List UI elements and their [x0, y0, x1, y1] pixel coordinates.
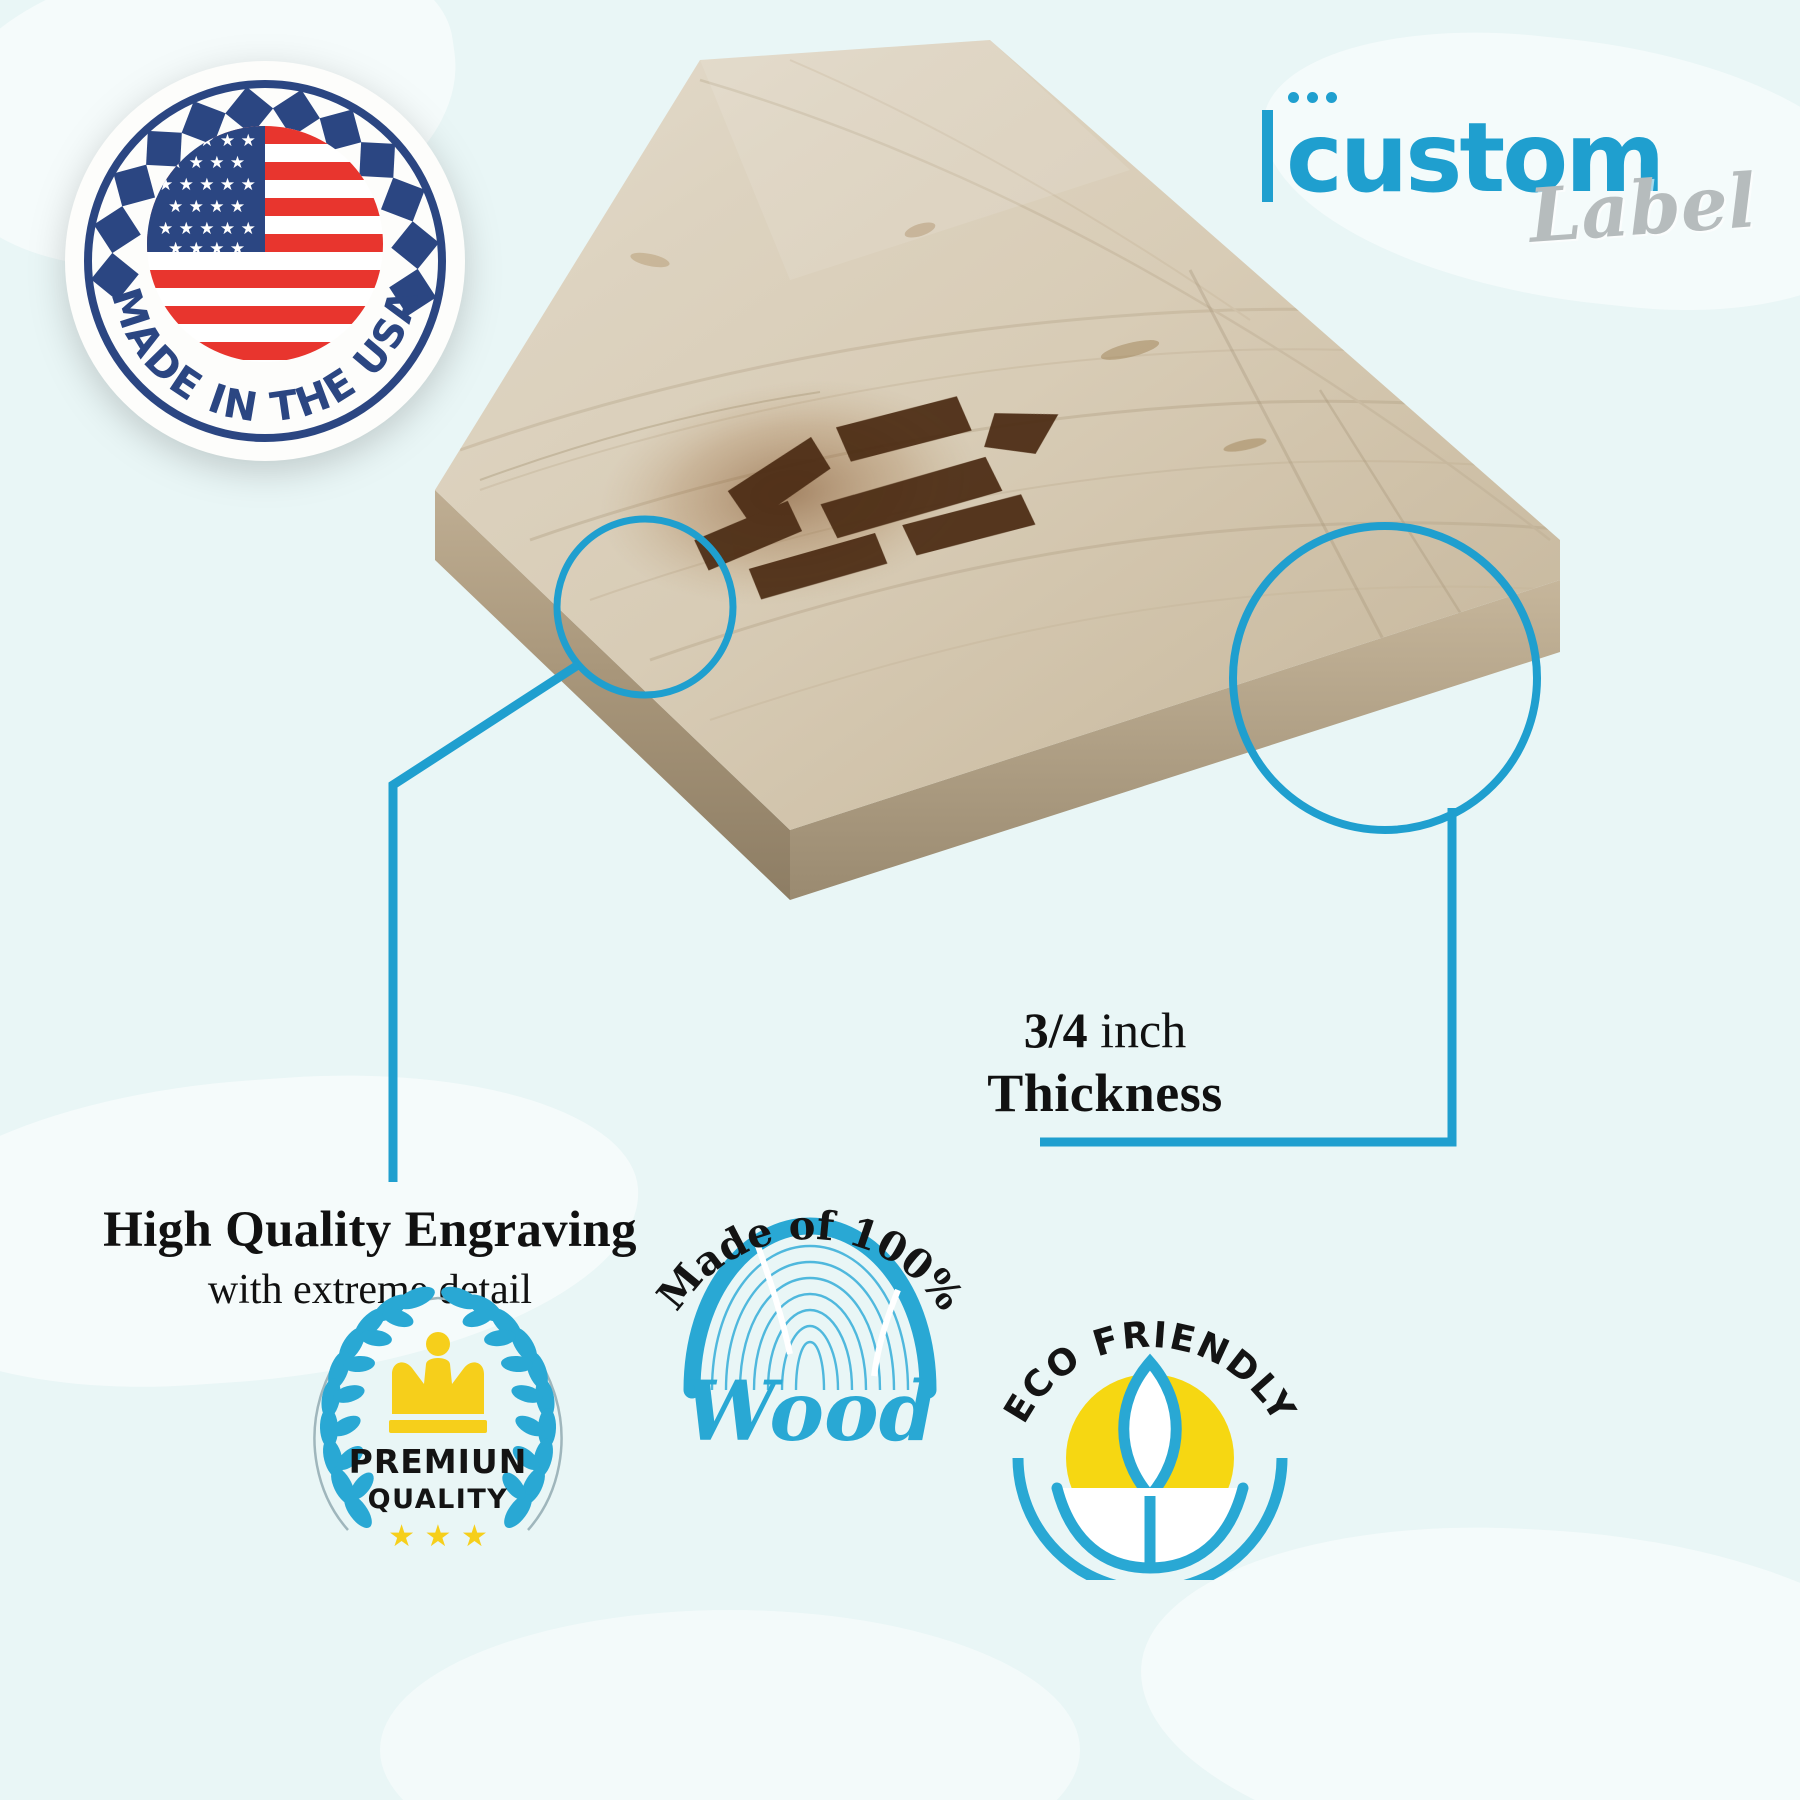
thickness-value: 3/4	[1024, 1002, 1088, 1058]
svg-text:★ ★ ★ ★ ★: ★ ★ ★ ★ ★	[158, 175, 256, 195]
premium-quality-line2: QUALITY	[368, 1484, 509, 1515]
engraving-title: High Quality Engraving	[40, 1200, 700, 1261]
eco-friendly-badge: ECO FRIENDLY	[985, 1250, 1315, 1580]
made-of-wood-arc-label: Made of 100%	[648, 1202, 972, 1319]
thickness-label: Thickness	[905, 1061, 1305, 1127]
premium-quality-line1: PREMIUN	[349, 1442, 528, 1481]
made-of-wood-badge: Made of 100% Wood	[630, 1140, 990, 1470]
brand-logo[interactable]: custom Label	[1242, 62, 1762, 242]
rating-stars-icon: ★ ★ ★	[388, 1519, 488, 1554]
thickness-unit: inch	[1100, 1002, 1186, 1058]
crown-icon	[389, 1332, 487, 1433]
made-in-the-usa-badge: ★ ★ ★ ★ ★ ★ ★ ★ ★ ★ ★ ★ ★ ★ ★ ★ ★ ★ ★ ★ …	[62, 58, 468, 464]
premium-quality-badge: PREMIUN QUALITY ★ ★ ★	[288, 1268, 588, 1568]
thickness-callout: 3/4 inch Thickness	[905, 1000, 1305, 1127]
svg-text:★ ★ ★ ★: ★ ★ ★ ★	[168, 239, 245, 259]
infographic-canvas: ★ ★ ★ ★ ★ ★ ★ ★ ★ ★ ★ ★ ★ ★ ★ ★ ★ ★ ★ ★ …	[0, 0, 1800, 1800]
united-states-flag-icon: ★ ★ ★ ★ ★ ★ ★ ★ ★ ★ ★ ★ ★ ★ ★ ★ ★ ★ ★ ★ …	[147, 126, 383, 362]
made-of-wood-script-label: Wood	[684, 1364, 936, 1460]
brand-word-label: Label	[1527, 164, 1759, 254]
svg-text:★ ★ ★ ★ ★: ★ ★ ★ ★ ★	[158, 219, 256, 239]
svg-text:★ ★ ★: ★ ★ ★	[388, 1519, 488, 1554]
i-mark-icon	[1250, 96, 1280, 206]
svg-text:★ ★ ★ ★: ★ ★ ★ ★	[168, 197, 245, 217]
